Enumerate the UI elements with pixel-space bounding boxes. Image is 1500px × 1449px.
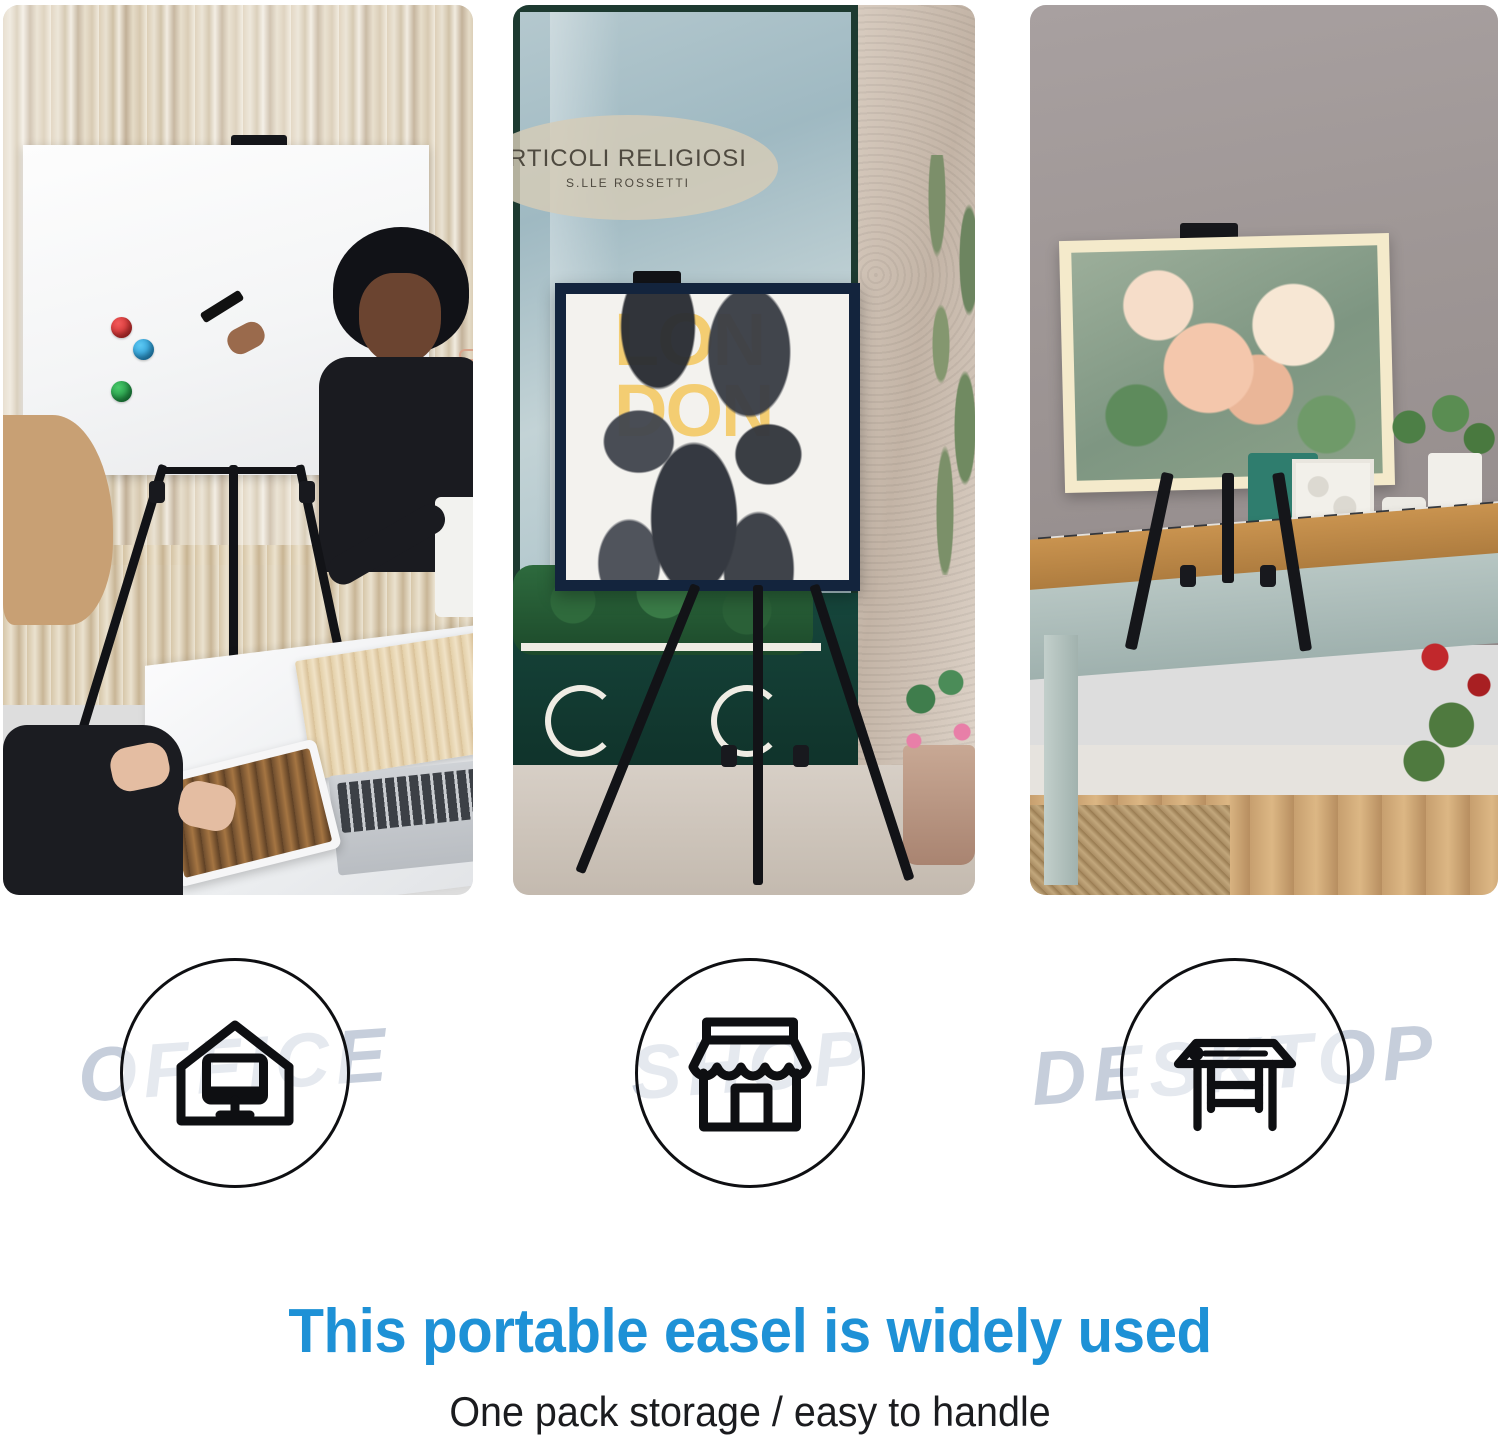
olive-branch-plant <box>913 155 975 575</box>
floral-painting-mat <box>1059 233 1395 493</box>
poster-birds-foliage-illustration <box>586 294 826 580</box>
shop-sign-subtitle: S.LLE ROSSETTI <box>566 176 690 190</box>
seated-person <box>3 705 218 895</box>
easel-leg-center <box>1222 473 1234 583</box>
easel-leg-right <box>1272 472 1312 652</box>
magnet-red-icon <box>111 317 132 338</box>
easel-leg-left <box>575 583 700 874</box>
easel-leg-center <box>753 585 763 885</box>
usage-icon-row: OFFICE SHOP <box>0 930 1500 1230</box>
magnet-blue-icon <box>133 339 154 360</box>
flowering-plant <box>895 655 975 765</box>
easel-leg-left <box>1125 472 1174 651</box>
drafting-table-icon <box>1160 998 1310 1148</box>
headline-text: This portable easel is widely used <box>45 1296 1455 1367</box>
desktop-scene <box>1030 5 1498 895</box>
desktop-icon-cell: DESKTOP <box>985 930 1485 1230</box>
office-icon-cell: OFFICE <box>0 930 485 1230</box>
shop-sign-title: RTICOLI RELIGIOSI <box>513 145 747 173</box>
office-icon-circle <box>120 958 350 1188</box>
red-roses <box>1402 605 1498 805</box>
table-leg <box>1044 635 1078 885</box>
london-poster-art: LONDON <box>566 294 849 580</box>
shop-icon-cell: SHOP <box>500 930 1000 1230</box>
easel-knob <box>793 745 809 767</box>
easel-knob <box>299 481 315 503</box>
desktop-easel-tripod <box>1122 473 1362 663</box>
desktop-icon-circle <box>1120 958 1350 1188</box>
office-scene <box>3 5 473 895</box>
presenter-face <box>359 273 441 365</box>
magnet-green-icon <box>111 381 132 402</box>
subline-text: One pack storage / easy to handle <box>45 1388 1455 1436</box>
usage-photo-row: RTICOLI RELIGIOSI S.LLE ROSSETTI LONDON <box>0 0 1500 900</box>
easel-knob <box>1180 565 1196 587</box>
easel-knob <box>721 745 737 767</box>
easel-knob <box>1260 565 1276 587</box>
desktop-usage-photo <box>1030 5 1498 895</box>
house-with-monitor-icon <box>160 998 310 1148</box>
shop-usage-photo: RTICOLI RELIGIOSI S.LLE ROSSETTI LONDON <box>513 5 975 895</box>
laptop-keyboard <box>337 768 473 833</box>
london-poster-frame: LONDON <box>555 283 860 591</box>
laptop <box>328 758 473 875</box>
shop-easel-tripod <box>571 585 901 895</box>
office-usage-photo <box>3 5 473 895</box>
easel-knob <box>149 481 165 503</box>
easel-leg-right <box>809 583 914 881</box>
easel-leg-center <box>229 465 238 685</box>
floral-painting-canvas <box>1071 245 1382 480</box>
storefront-awning-icon <box>675 998 825 1148</box>
shop-icon-circle <box>635 958 865 1188</box>
shop-scene: RTICOLI RELIGIOSI S.LLE ROSSETTI LONDON <box>513 5 975 895</box>
